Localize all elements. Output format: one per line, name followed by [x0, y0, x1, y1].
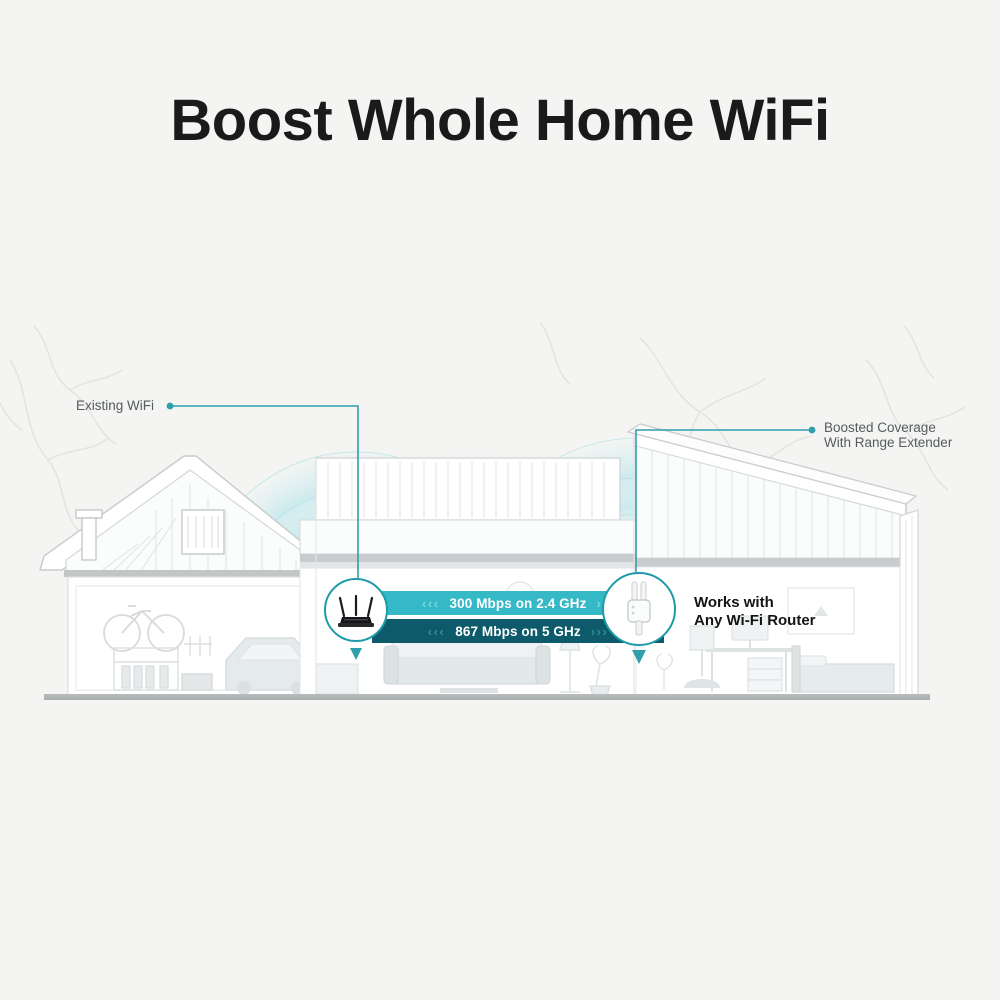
car [226, 638, 312, 695]
works-with-callout: Works with Any Wi-Fi Router [694, 594, 816, 630]
page-title: Boost Whole Home WiFi [0, 92, 1000, 150]
house-cutaway-svg [0, 320, 1000, 740]
chevrons-left-icon: ‹‹‹ [428, 625, 446, 638]
ground-slab-right [636, 694, 930, 704]
wifi-router-icon [326, 580, 386, 640]
drawer-unit [748, 658, 782, 691]
promo-graphic: Boost Whole Home WiFi [0, 0, 1000, 1000]
living-section [300, 458, 636, 696]
sofa [384, 640, 550, 684]
house-illustration [0, 320, 1000, 740]
ground-slab-left [44, 694, 340, 704]
speed-bar-2-4ghz-text: 300 Mbps on 2.4 GHz [450, 596, 587, 611]
speed-bar-5ghz-text: 867 Mbps on 5 GHz [455, 624, 580, 639]
label-existing-wifi: Existing WiFi [76, 398, 154, 413]
extender-badge [602, 572, 676, 646]
router-badge [324, 578, 388, 642]
range-extender-icon [604, 574, 674, 644]
ground-slab-center [300, 694, 644, 704]
chevrons-left-icon: ‹‹‹ [422, 597, 440, 610]
label-boosted-coverage: Boosted Coverage With Range Extender [824, 420, 952, 450]
bedroom-section [628, 424, 918, 696]
